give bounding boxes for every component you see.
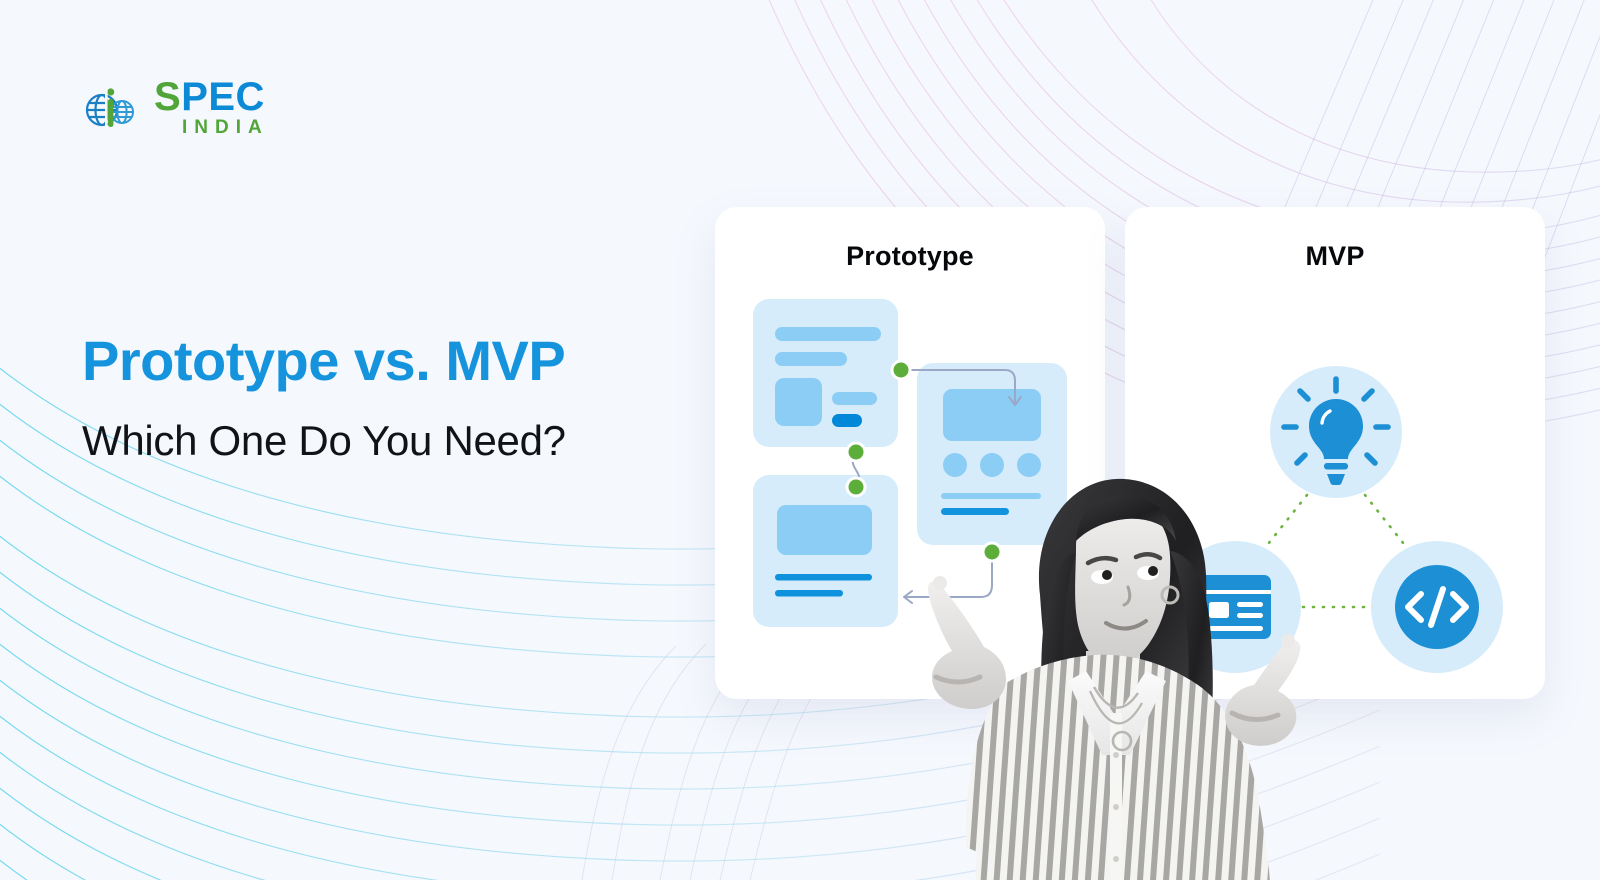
card-prototype[interactable]: Prototype bbox=[715, 207, 1105, 699]
prototype-wireframe-illustration bbox=[715, 295, 1105, 695]
brand-name-pec: PEC bbox=[181, 75, 265, 119]
wireframe-panel-2 bbox=[917, 363, 1067, 545]
brand-name-india: INDIA bbox=[154, 118, 269, 137]
card-prototype-title: Prototype bbox=[715, 241, 1105, 272]
mvp-node-interface bbox=[1169, 541, 1301, 673]
wireframe-panel-3 bbox=[753, 475, 898, 627]
code-brackets-icon bbox=[1395, 565, 1479, 649]
brand-logo[interactable]: SPEC INDIA bbox=[82, 78, 269, 137]
page-subtitle: Which One Do You Need? bbox=[82, 417, 702, 465]
connector-line-3 bbox=[905, 555, 992, 597]
poster-canvas: SPEC INDIA Prototype vs. MVP Which One D… bbox=[0, 0, 1600, 880]
mvp-node-idea bbox=[1270, 366, 1402, 498]
page-title: Prototype vs. MVP bbox=[82, 330, 702, 393]
globe-logo-icon bbox=[82, 79, 144, 137]
brand-name-s: S bbox=[154, 75, 181, 119]
wireframe-panel-1 bbox=[753, 299, 898, 447]
mvp-node-code bbox=[1371, 541, 1503, 673]
connector-dot-2 bbox=[847, 443, 865, 461]
connector-dot-1 bbox=[892, 361, 910, 379]
card-mvp[interactable]: MVP bbox=[1125, 207, 1545, 699]
browser-window-icon bbox=[1199, 575, 1271, 639]
card-mvp-title: MVP bbox=[1125, 241, 1545, 272]
brand-wordmark: SPEC INDIA bbox=[154, 78, 269, 137]
mvp-icon-triangle-illustration bbox=[1125, 287, 1545, 687]
connector-dot-3 bbox=[847, 478, 865, 496]
headline-block: Prototype vs. MVP Which One Do You Need? bbox=[82, 330, 702, 465]
connector-dot-4 bbox=[983, 543, 1001, 561]
